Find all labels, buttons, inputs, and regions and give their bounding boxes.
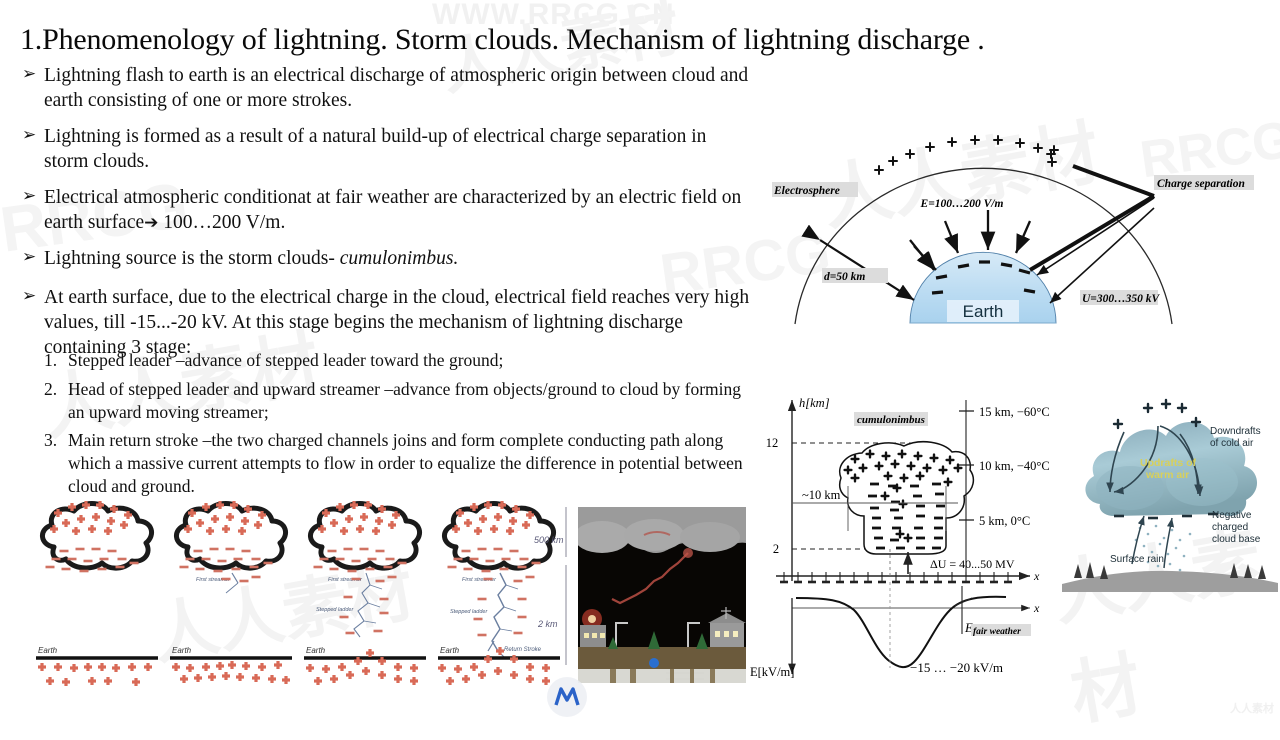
bullet-marker-icon: ➢: [22, 186, 44, 236]
cloud-width-label: ~10 km: [802, 488, 841, 502]
scale-label-500km: 500 km: [534, 535, 564, 545]
y-axis-label: h[km]: [799, 396, 830, 410]
bullet-text: Lightning is formed as a result of a nat…: [44, 125, 752, 175]
bullet-marker-icon: ➢: [22, 125, 44, 175]
bullet-text-emphasis: cumulonimbus.: [340, 248, 459, 269]
distance-label: d=50 km: [824, 271, 865, 283]
earth-label: Earth: [38, 646, 58, 655]
bullet-item: ➢ Lightning is formed as a result of a n…: [22, 125, 752, 175]
negative-base-label-line1: Negative: [1212, 510, 1252, 521]
field-x-axis-label: x: [1033, 601, 1040, 615]
arrow-right-icon: ➔: [144, 213, 158, 233]
temp-scale-5km: 5 km, 0°C: [979, 514, 1030, 528]
stage-panel-1: Earth: [36, 501, 158, 686]
bullet-marker-icon: ➢: [22, 247, 44, 272]
electrosphere-earth-diagram: Electrosphere Charge separation E=100…20…: [762, 118, 1280, 340]
storm-cloud-updraft-illustration: Downdrafts of cold air Updrafts of warm …: [1062, 392, 1278, 598]
bullet-item: ➢ Lightning flash to earth is an electri…: [22, 64, 752, 114]
brand-text: 人人素材: [592, 685, 696, 715]
lightning-stage-panels: Earth: [28, 495, 573, 710]
field-label-fairweather: fair weather: [973, 627, 1021, 637]
stepped-ladder-label: Stepped ladder: [316, 607, 354, 613]
stage-panel-4: First streamer Stepped ladder Return Str…: [438, 501, 560, 685]
delta-u-label: ΔU = 40...50 MV: [930, 557, 1015, 571]
stage-panel-2: First streamer Earth: [170, 501, 292, 684]
numbered-item-text: Main return stroke –the two charged chan…: [68, 429, 744, 497]
negative-base-label-line3: cloud base: [1212, 534, 1261, 545]
earth-label: Earth: [440, 646, 460, 655]
bullet-item: ➢ Electrical atmospheric conditionat at …: [22, 186, 752, 236]
earth-label: Earth: [172, 646, 192, 655]
charge-separation-label: Charge separation: [1157, 178, 1245, 190]
temp-scale-15km: 15 km, −60°C: [979, 405, 1050, 419]
earth-label: Earth: [306, 646, 326, 655]
earth-label: Earth: [963, 302, 1004, 321]
bullet-text: Lightning source is the storm clouds-: [44, 248, 340, 269]
field-value-label: E=100…200 V/m: [920, 198, 1004, 210]
field-y-axis-label: E[kV/m]: [750, 665, 794, 679]
channel-negative-charges: [340, 577, 397, 633]
scale-bar: 500 km 2 km: [534, 507, 566, 665]
voltage-label: U=300…350 kV: [1082, 293, 1160, 305]
numbered-item-index: 3.: [44, 429, 68, 497]
bullet-text: Lightning flash to earth is an electrica…: [44, 64, 752, 114]
numbered-list: 1. Stepped leader –advance of stepped le…: [44, 349, 744, 504]
scale-label-2km: 2 km: [537, 619, 558, 629]
numbered-item-index: 1.: [44, 349, 68, 372]
bullet-text-composite: Electrical atmospheric conditionat at fa…: [44, 186, 752, 236]
bullet-text-part2: 100…200 V/m.: [158, 212, 285, 233]
electrosphere-positive-charges: [875, 136, 1058, 174]
downdrafts-label-line1: Downdrafts: [1210, 426, 1261, 437]
numbered-item-index: 2.: [44, 378, 68, 424]
ytick-12: 12: [766, 436, 779, 450]
ground-band: [578, 647, 746, 669]
ground-positive-charges: [172, 661, 290, 684]
downdrafts-label-line2: of cold air: [1210, 438, 1254, 449]
bullet-marker-icon: ➢: [22, 64, 44, 114]
slide-title: 1.Phenomenology of lightning. Storm clou…: [20, 24, 1270, 56]
surface-rain-label: Surface rain: [1110, 554, 1164, 565]
numbered-item-text: Head of stepped leader and upward stream…: [68, 378, 744, 424]
bullet-item: ➢ Lightning source is the storm clouds- …: [22, 247, 752, 272]
ytick-2: 2: [773, 542, 779, 556]
slide-root: WWW.RRCG.CN RRCG RRCG RRCG 人人素材 人人素材 人人素…: [0, 0, 1280, 720]
electrosphere-label: Electrosphere: [773, 185, 840, 197]
stepped-ladder-label: Stepped ladder: [450, 609, 488, 615]
ground-tick-marks: [784, 572, 1008, 582]
lightning-night-scene-photo: [578, 507, 746, 683]
cumulonimbus-chart: h[km] x: [758, 386, 1063, 698]
charge-separation-pointers: [1030, 166, 1154, 303]
numbered-item: 1. Stepped leader –advance of stepped le…: [44, 349, 744, 372]
bullet-text-composite: Lightning source is the storm clouds- cu…: [44, 247, 458, 272]
stage-panel-3: First streamer Stepped ladder Earth: [304, 501, 426, 685]
corner-watermark: 人人素材: [1230, 700, 1274, 716]
field-min-label: −15 … −20 kV/m: [910, 660, 1003, 675]
numbered-item: 3. Main return stroke –the two charged c…: [44, 429, 744, 497]
numbered-item-text: Stepped leader –advance of stepped leade…: [68, 349, 503, 372]
bullet-list: ➢ Lightning flash to earth is an electri…: [22, 64, 752, 372]
bullet-marker-icon: ➢: [22, 286, 44, 361]
negative-base-label-line2: charged: [1212, 522, 1248, 533]
return-stroke-label: Return Stroke: [504, 647, 542, 653]
numbered-item: 2. Head of stepped leader and upward str…: [44, 378, 744, 424]
ground-positive-charges: [38, 663, 152, 686]
x-axis-label: x: [1033, 569, 1040, 583]
updrafts-label-line2: warm air: [1145, 469, 1189, 481]
updrafts-label-line1: Updrafts of: [1140, 457, 1197, 469]
chart-title: cumulonimbus: [857, 414, 925, 426]
temp-scale-10km: 10 km, −40°C: [979, 459, 1050, 473]
return-stroke-path: [492, 573, 506, 651]
first-streamer-path: [232, 573, 238, 583]
